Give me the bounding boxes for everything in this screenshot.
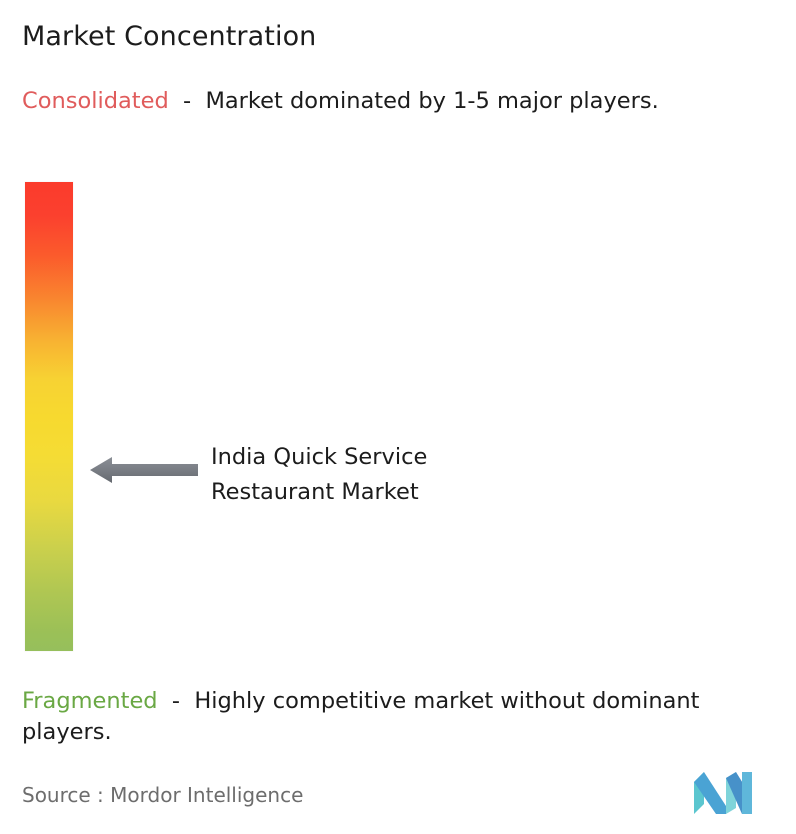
pointer-label: India Quick Service Restaurant Market [211, 440, 427, 510]
source-attribution: Source : Mordor Intelligence [22, 782, 303, 808]
market-concentration-chart: Market Concentration Consolidated - Mark… [0, 0, 796, 834]
left-arrow-icon [90, 457, 198, 483]
chart-footer: Source : Mordor Intelligence [0, 770, 796, 834]
concentration-gradient-bar [25, 182, 73, 651]
consolidated-separator: - [169, 88, 206, 114]
consolidated-caption: Consolidated - Market dominated by 1-5 m… [22, 86, 774, 117]
mordor-intelligence-logo-icon [692, 770, 754, 814]
consolidated-keyword: Consolidated [22, 88, 169, 114]
fragmented-keyword: Fragmented [22, 688, 158, 714]
source-label: Source : [22, 783, 104, 807]
source-value: Mordor Intelligence [110, 783, 303, 807]
consolidated-description: Market dominated by 1-5 major players. [205, 88, 658, 114]
market-pointer-arrow [90, 455, 198, 485]
pointer-label-line-2: Restaurant Market [211, 475, 427, 510]
fragmented-separator: - [158, 688, 195, 714]
fragmented-caption: Fragmented - Highly competitive market w… [22, 686, 784, 748]
page-title: Market Concentration [22, 20, 316, 54]
pointer-label-line-1: India Quick Service [211, 440, 427, 475]
